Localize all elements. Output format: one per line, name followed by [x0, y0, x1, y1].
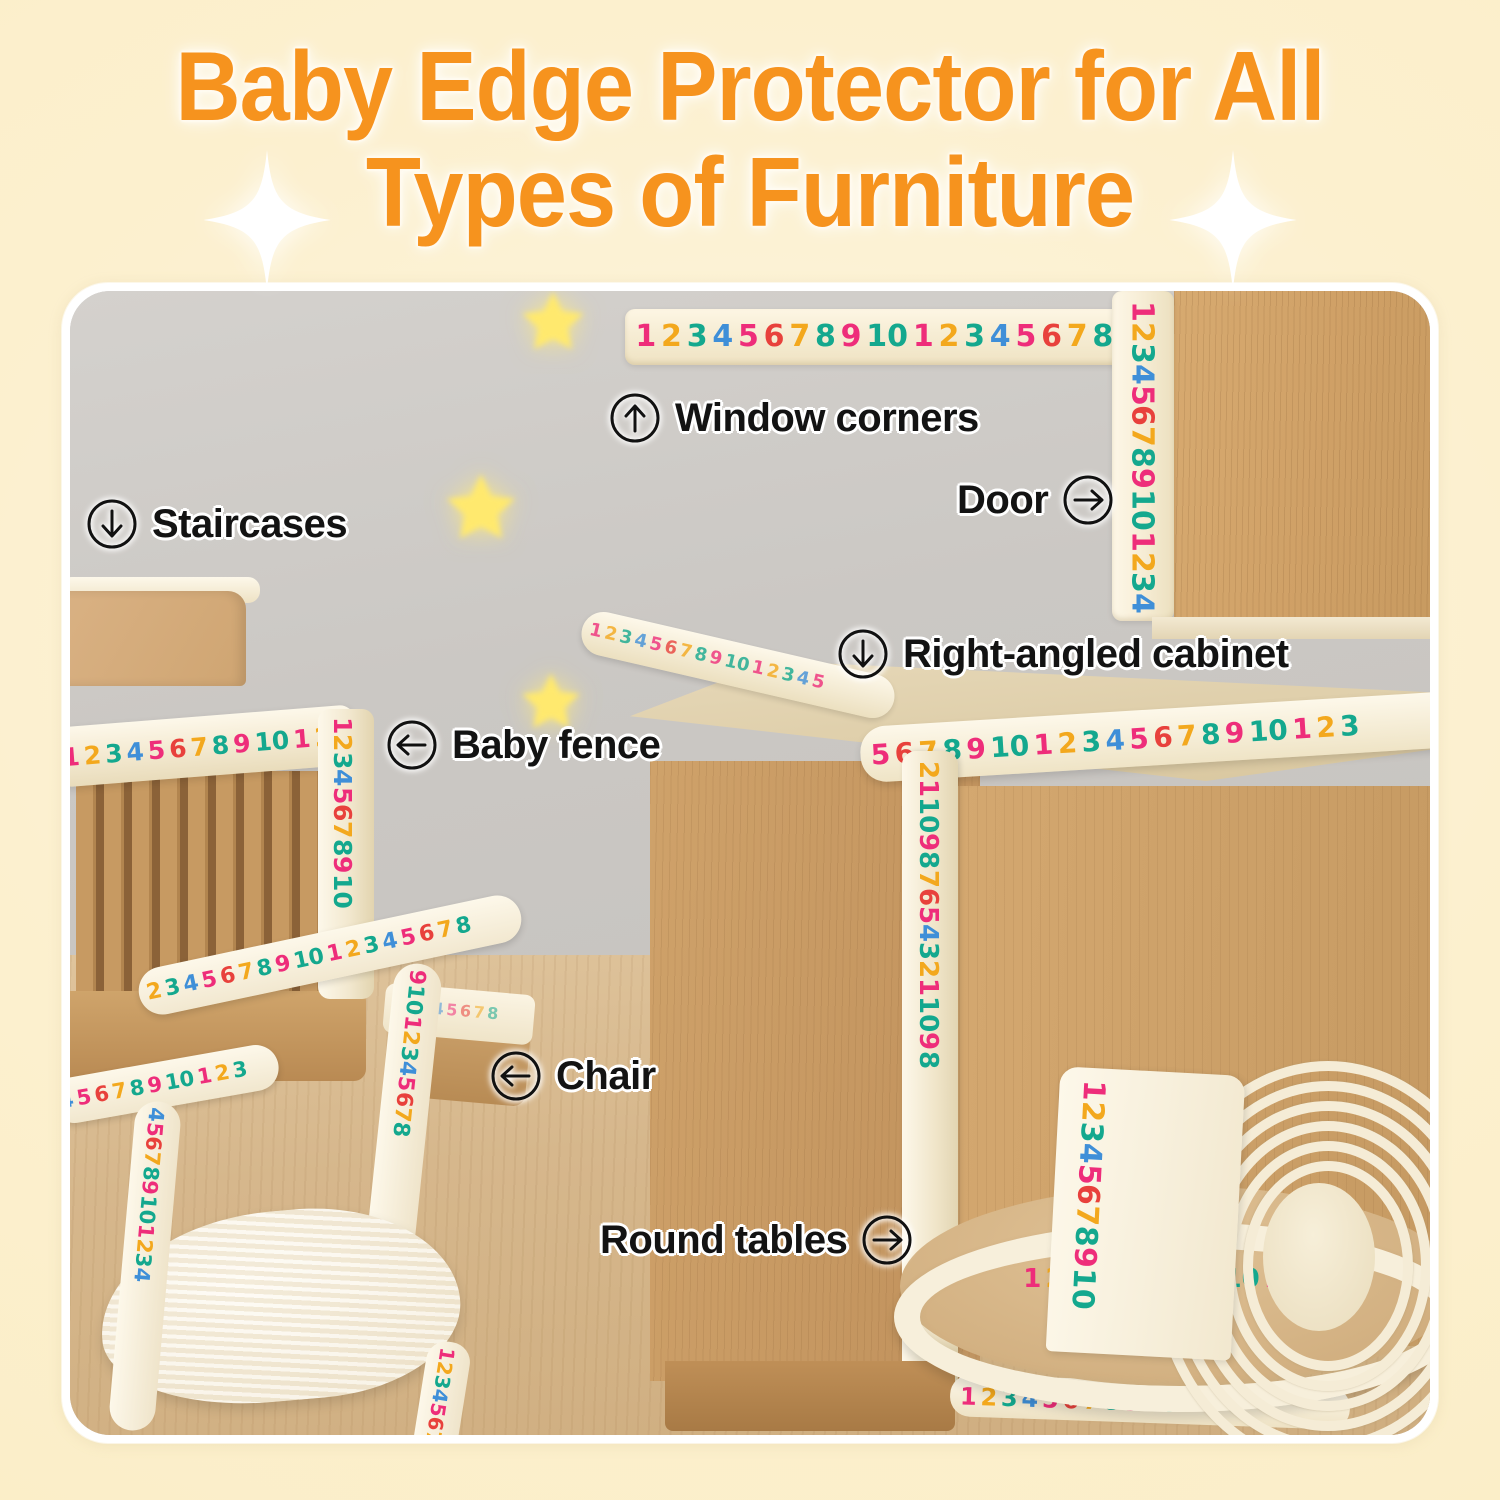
window-corner-strip: 1234567891012345678910 — [625, 309, 1145, 365]
title-line-1: Baby Edge Protector for All — [60, 34, 1440, 140]
crib-headboard — [70, 591, 246, 686]
arrow-down-circle-icon — [86, 498, 138, 550]
number-print: 45678910123 — [70, 1041, 280, 1113]
sparkle-right-icon — [1168, 150, 1298, 290]
arrow-right-circle-icon — [1062, 474, 1114, 526]
arrow-up-circle-icon — [609, 392, 661, 444]
number-print: 12345678910 — [318, 709, 357, 908]
chair-back-strip: 234567891012345678 — [134, 891, 525, 1019]
door-edge-strip: 123456789101234 — [1112, 291, 1174, 621]
roll-tail-strip: 12345678910 — [1046, 1066, 1246, 1360]
callout-label: Baby fence — [452, 723, 660, 768]
callout-baby-fence[interactable]: Baby fence — [386, 719, 660, 771]
product-photo-frame: 1234567891012345678910 123456789101234 — [62, 283, 1438, 1443]
page-background: Baby Edge Protector for All Types of Fur… — [0, 0, 1500, 1500]
callout-label: Window corners — [675, 396, 979, 441]
number-print: 1234567891012345678910 — [625, 309, 1145, 352]
callout-round-tables[interactable]: Round tables — [600, 1214, 913, 1266]
callout-label: Round tables — [600, 1218, 847, 1263]
callout-right-angled-cabinet[interactable]: Right-angled cabinet — [837, 628, 1289, 680]
arrow-right-circle-icon — [861, 1214, 913, 1266]
number-print: 91012345678 — [378, 961, 431, 1138]
callout-label: Staircases — [152, 502, 347, 547]
number-print: 456789101234 — [121, 1100, 169, 1284]
number-print: 123456789101234 — [70, 704, 357, 770]
arrow-left-circle-icon — [490, 1050, 542, 1102]
number-print: 21109876543211098 — [902, 751, 943, 1069]
arrow-left-circle-icon — [386, 719, 438, 771]
callout-label: Door — [957, 478, 1048, 523]
page-title: Baby Edge Protector for All Types of Fur… — [0, 34, 1500, 246]
number-print: 123456789101234 — [1112, 291, 1159, 614]
title-line-2: Types of Furniture — [60, 140, 1440, 246]
callout-staircases[interactable]: Staircases — [86, 498, 347, 550]
callout-window-corners[interactable]: Window corners — [609, 392, 979, 444]
callout-label: Chair — [556, 1054, 656, 1099]
roll-core — [1263, 1183, 1375, 1331]
door-panel — [1174, 291, 1430, 623]
callout-chair[interactable]: Chair — [490, 1050, 656, 1102]
callout-label: Right-angled cabinet — [903, 632, 1289, 677]
edge-protector-roll: 12345678910 — [1113, 1061, 1430, 1435]
arrow-down-circle-icon — [837, 628, 889, 680]
sparkle-left-icon — [202, 150, 332, 290]
callout-door[interactable]: Door — [957, 474, 1114, 526]
chair: 234567891012345678 91012345678 456789101… — [70, 911, 580, 1435]
